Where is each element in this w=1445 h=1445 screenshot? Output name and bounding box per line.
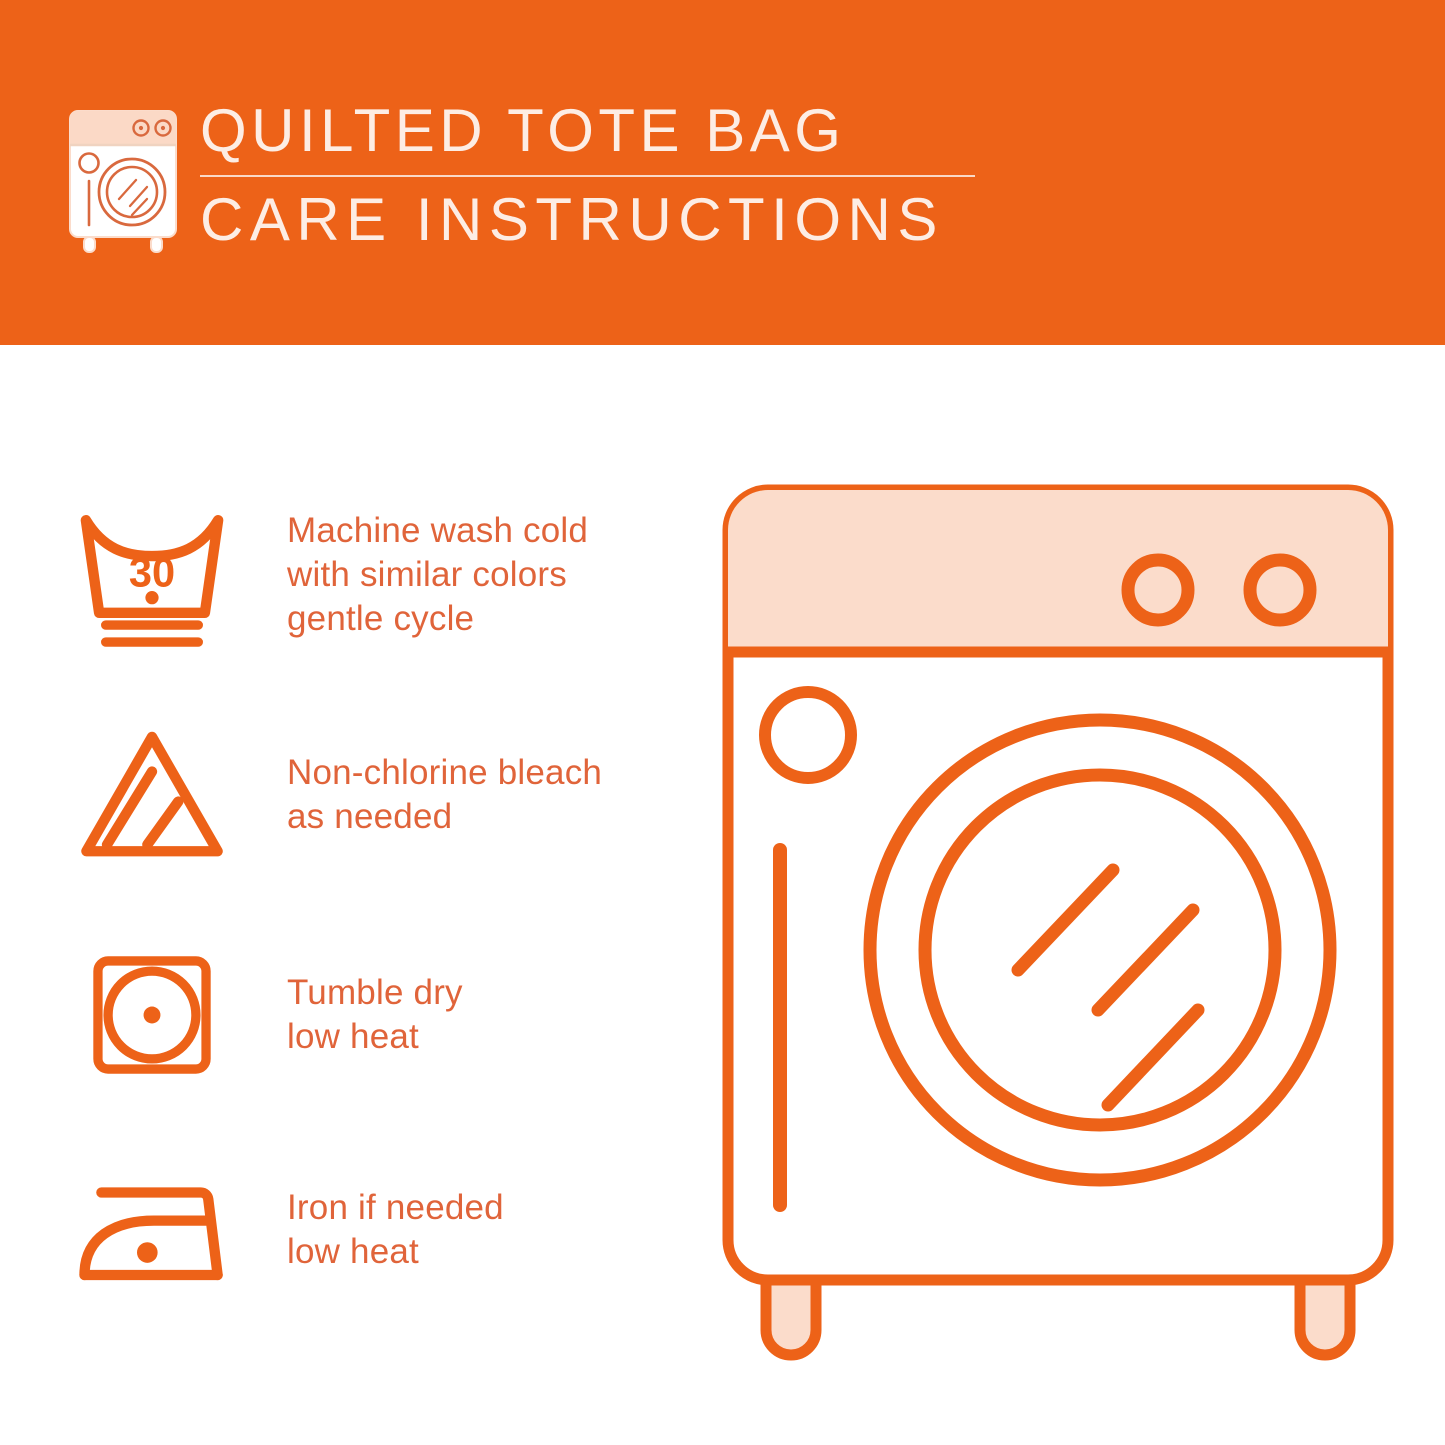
care-row: Iron if needed low heat: [62, 1145, 682, 1315]
care-label: Non-chlorine bleach as needed: [287, 751, 602, 839]
care-label: Iron if needed low heat: [287, 1186, 504, 1274]
care-instructions-page: QUILTED TOTE BAG CARE INSTRUCTIONS 30: [0, 0, 1445, 1445]
page-subtitle: CARE INSTRUCTIONS: [200, 185, 990, 255]
front-load-washing-machine-illustration: [718, 480, 1398, 1370]
care-instruction-list: 30 Machine wash cold with similar colors…: [0, 345, 700, 1445]
title-divider: [200, 175, 975, 177]
wash-temperature-value: 30: [129, 548, 175, 595]
care-row: Non-chlorine bleach as needed: [62, 710, 682, 880]
iron-low-heat-icon: [62, 1145, 242, 1315]
header-text-block: QUILTED TOTE BAG CARE INSTRUCTIONS: [200, 96, 990, 255]
header-banner: QUILTED TOTE BAG CARE INSTRUCTIONS: [0, 0, 1445, 345]
washing-machine-icon: [62, 103, 184, 255]
tumble-dry-low-icon: [62, 930, 242, 1100]
wash-tub-30-icon: 30: [62, 490, 242, 660]
control-panel: [728, 490, 1388, 652]
care-label: Tumble dry low heat: [287, 971, 463, 1059]
care-row: Tumble dry low heat: [62, 930, 682, 1100]
page-title: QUILTED TOTE BAG: [200, 96, 990, 166]
care-label: Machine wash cold with similar colors ge…: [287, 509, 588, 641]
care-row: 30 Machine wash cold with similar colors…: [62, 490, 682, 660]
bleach-triangle-icon: [62, 710, 242, 880]
